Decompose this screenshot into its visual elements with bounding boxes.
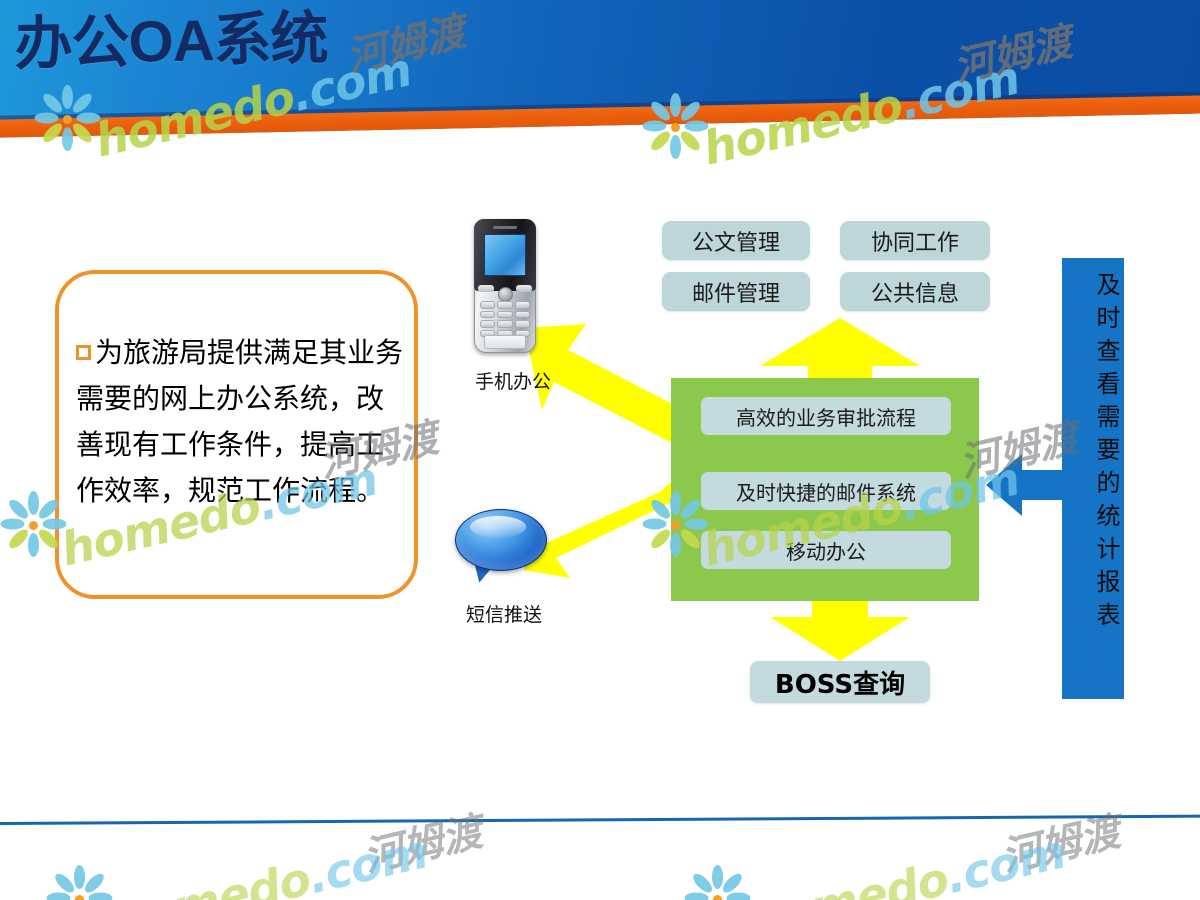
- module-box-public-info[interactable]: 公共信息: [840, 272, 990, 311]
- speech-bubble-body: [455, 509, 547, 571]
- module-box-collaboration[interactable]: 协同工作: [840, 221, 990, 260]
- phone-bottom-plate: [484, 335, 526, 349]
- reports-sidebar-label: 及时查看需要的统计报表: [1062, 272, 1124, 635]
- watermark-brand-footer-right: homedo.com: [744, 824, 1070, 900]
- square-bullet-icon: [76, 345, 91, 360]
- flower-logo-icon: [52, 872, 106, 900]
- core-item-mobile-office[interactable]: 移动办公: [701, 531, 951, 569]
- phone-navigation-key: [498, 287, 513, 302]
- speech-bubble-gloss: [470, 516, 526, 538]
- speech-bubble-icon: [455, 509, 547, 591]
- footer-divider: [0, 815, 1200, 825]
- watermark-brand-footer-left: homedo.com: [106, 824, 432, 900]
- module-box-document-management[interactable]: 公文管理: [662, 221, 810, 260]
- phone-speaker: [493, 226, 517, 229]
- watermark-cn-footer-left: 河姆渡: [357, 799, 487, 883]
- watermark-brand-latin: homedo: [744, 851, 953, 900]
- phone-softkey-right: [516, 285, 532, 292]
- core-item-mail-system[interactable]: 及时快捷的邮件系统: [701, 472, 951, 510]
- watermark-brand-latin: homedo: [106, 851, 315, 900]
- objective-text: 为旅游局提供满足其业务需要的网上办公系统，改善现有工作条件，提高工作效率，规范工…: [76, 336, 403, 507]
- mobile-phone-icon: [474, 219, 536, 353]
- phone-softkey-left: [478, 285, 494, 292]
- arrow-up-to-modules: [760, 318, 920, 380]
- watermark-brand-suffix: .com: [941, 824, 1070, 900]
- flower-logo-icon: [690, 872, 744, 900]
- phone-keypad: [480, 301, 530, 337]
- boss-query-box[interactable]: BOSS查询: [750, 661, 930, 703]
- slide-canvas: 办公OA系统 homedo.com 河姆渡: [0, 0, 1200, 900]
- objective-text-block: 为旅游局提供满足其业务需要的网上办公系统，改善现有工作条件，提高工作效率，规范工…: [76, 330, 406, 514]
- sms-push-label: 短信推送: [466, 600, 542, 627]
- phone-screen: [484, 234, 526, 276]
- mobile-office-label: 手机办公: [475, 367, 551, 394]
- watermark-brand-suffix: .com: [303, 824, 432, 900]
- arrow-to-sms: [524, 470, 684, 580]
- core-item-approval-flow[interactable]: 高效的业务审批流程: [701, 397, 951, 435]
- core-capabilities-panel: 高效的业务审批流程 及时快捷的邮件系统 移动办公: [671, 378, 979, 601]
- page-title: 办公OA系统: [14, 10, 328, 74]
- arrow-down-to-boss: [770, 601, 910, 661]
- watermark-cn-footer-right: 河姆渡: [995, 799, 1125, 883]
- arrow-reports-to-core: [986, 452, 1064, 518]
- module-box-mail-management[interactable]: 邮件管理: [662, 272, 810, 311]
- flower-logo-icon: [6, 498, 60, 552]
